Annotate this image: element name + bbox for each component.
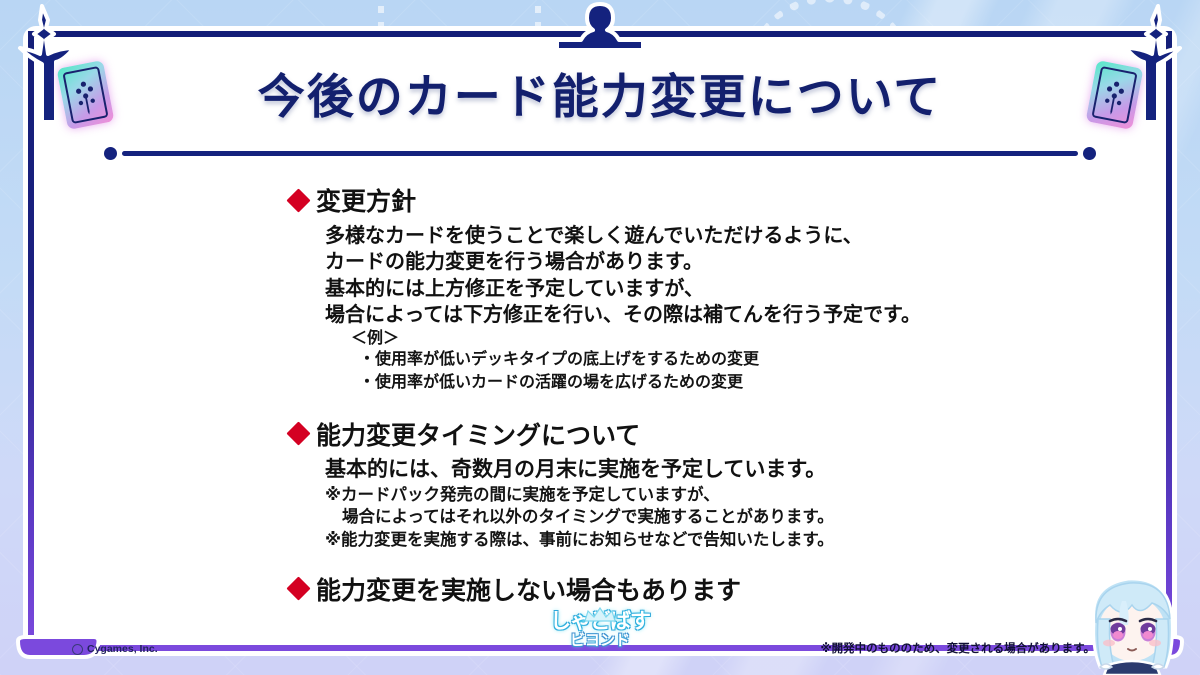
body-line: 多様なカードを使うことで楽しく遊んでいただけるように、: [325, 222, 1140, 248]
section-no-change: 能力変更を実施しない場合もあります: [290, 571, 1140, 607]
section-heading-timing: 能力変更タイミングについて: [290, 416, 1140, 452]
diamond-bullet-icon: [286, 577, 310, 601]
section-heading-label: 能力変更を実施しない場合もあります: [316, 571, 741, 607]
note-line: ※カードパック発売の間に実施を予定していますが、: [325, 484, 1140, 506]
note-line: 場合によってはそれ以外のタイミングで実施することがあります。: [342, 506, 1140, 528]
section-body-change-policy: 多様なカードを使うことで楽しく遊んでいただけるように、 カードの能力変更を行う場…: [325, 222, 1140, 394]
divider-dot-left-icon: [104, 147, 117, 160]
example-item: ・使用率が低いカードの活躍の場を広げるための変更: [359, 372, 1140, 394]
logo-crown-icon: [583, 607, 617, 623]
section-heading-change-policy: 変更方針: [290, 182, 1140, 218]
divider-dot-right-icon: [1083, 147, 1096, 160]
diamond-bullet-icon: [286, 422, 310, 446]
title-divider: [104, 147, 1096, 161]
section-change-policy: 変更方針 多様なカードを使うことで楽しく遊んでいただけるように、 カードの能力変…: [290, 182, 1140, 394]
copyright-notice: Cygames, Inc.: [72, 643, 158, 655]
divider-line: [122, 151, 1078, 156]
logo-sub-text: ビヨンド: [525, 632, 675, 649]
section-timing: 能力変更タイミングについて 基本的には、奇数月の月末に実施を予定しています。 ※…: [290, 416, 1140, 551]
disclaimer-note: ※開発中のもののため、変更される場合があります。: [820, 640, 1095, 656]
body-line: 基本的には上方修正を予定していますが、: [325, 275, 1140, 301]
section-heading-label: 能力変更タイミングについて: [316, 416, 640, 452]
body-line: 基本的には、奇数月の月末に実施を予定しています。: [325, 456, 1140, 484]
slide-root: 今後のカード能力変更について 変更方針 多様なカードを使うことで楽しく遊んでいた…: [0, 0, 1200, 675]
slide-content: 変更方針 多様なカードを使うことで楽しく遊んでいただけるように、 カードの能力変…: [290, 182, 1140, 611]
body-line: カードの能力変更を行う場合があります。: [325, 248, 1140, 274]
page-title: 今後のカード能力変更について: [0, 58, 1200, 127]
diamond-bullet-icon: [286, 188, 310, 212]
copyright-symbol-icon: [72, 644, 83, 655]
section-heading-no-change: 能力変更を実施しない場合もあります: [290, 571, 1140, 607]
section-body-timing: 基本的には、奇数月の月末に実施を予定しています。 ※カードパック発売の間に実施を…: [325, 456, 1140, 551]
example-label: ＜例＞: [351, 328, 1140, 350]
example-item: ・使用率が低いデッキタイプの底上げをするための変更: [359, 349, 1140, 371]
chibi-character-illustration: [1068, 563, 1196, 675]
copyright-label: Cygames, Inc.: [87, 643, 158, 655]
game-logo: しゃどばす ビヨンド: [525, 611, 675, 667]
top-center-ornament-icon: [555, 0, 645, 56]
example-block: ＜例＞ ・使用率が低いデッキタイプの底上げをするための変更 ・使用率が低いカード…: [351, 328, 1140, 394]
body-line: 場合によっては下方修正を行い、その際は補てんを行う予定です。: [325, 301, 1140, 327]
note-line: ※能力変更を実施する際は、事前にお知らせなどで告知いたします。: [325, 529, 1140, 551]
section-heading-label: 変更方針: [316, 182, 416, 218]
